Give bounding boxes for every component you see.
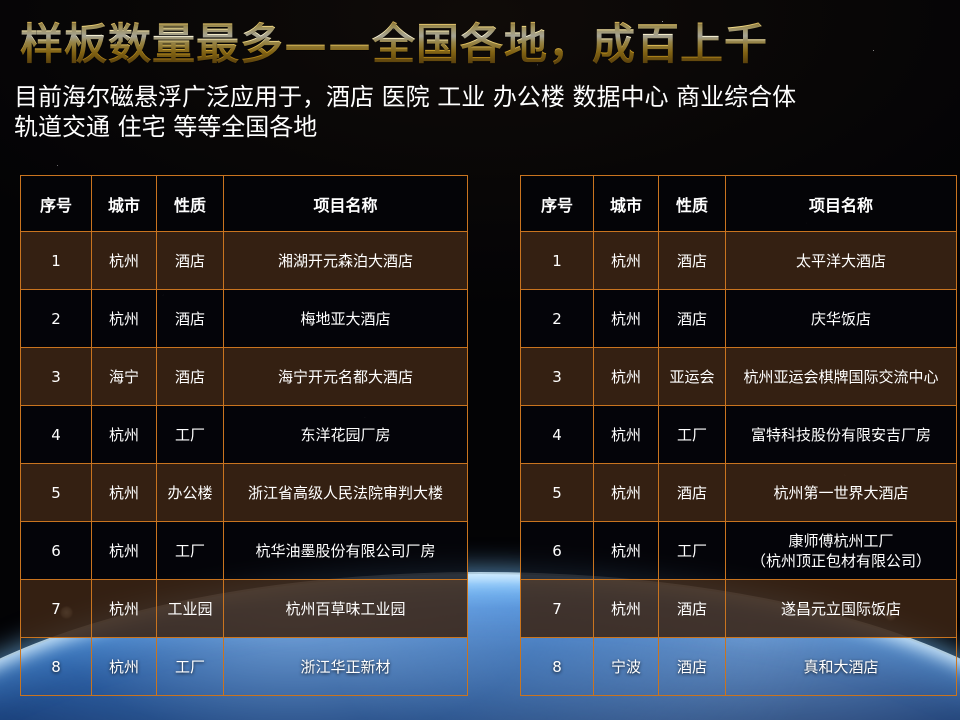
table-row[interactable]: 1 杭州 酒店 太平洋大酒店 bbox=[521, 232, 957, 290]
table-row[interactable]: 4 杭州 工厂 富特科技股份有限安吉厂房 bbox=[521, 406, 957, 464]
cell-type: 办公楼 bbox=[157, 464, 224, 522]
cell-index: 5 bbox=[521, 464, 594, 522]
table-row[interactable]: 5 杭州 酒店 杭州第一世界大酒店 bbox=[521, 464, 957, 522]
table-row[interactable]: 1 杭州 酒店 湘湖开元森泊大酒店 bbox=[21, 232, 468, 290]
table-row[interactable]: 8 杭州 工厂 浙江华正新材 bbox=[21, 638, 468, 696]
slide-canvas: 样板数量最多——全国各地，成百上千 目前海尔磁悬浮广泛应用于，酒店 医院 工业 … bbox=[0, 0, 960, 720]
cell-type: 酒店 bbox=[659, 580, 726, 638]
cell-project: 海宁开元名都大酒店 bbox=[224, 348, 468, 406]
cell-index: 1 bbox=[21, 232, 92, 290]
cell-city: 杭州 bbox=[92, 522, 157, 580]
cell-type: 工业园 bbox=[157, 580, 224, 638]
cell-city: 杭州 bbox=[92, 580, 157, 638]
cell-index: 2 bbox=[21, 290, 92, 348]
cell-city: 杭州 bbox=[92, 406, 157, 464]
cell-type: 酒店 bbox=[659, 290, 726, 348]
table-row[interactable]: 6 杭州 工厂 康师傅杭州工厂 （杭州顶正包材有限公司） bbox=[521, 522, 957, 580]
cell-index: 6 bbox=[521, 522, 594, 580]
cell-index: 3 bbox=[521, 348, 594, 406]
cell-type: 工厂 bbox=[157, 638, 224, 696]
cell-city: 杭州 bbox=[92, 464, 157, 522]
cell-city: 宁波 bbox=[594, 638, 659, 696]
cell-project: 杭华油墨股份有限公司厂房 bbox=[224, 522, 468, 580]
table-left-header-row: 序号 城市 性质 项目名称 bbox=[21, 176, 468, 232]
cell-project-line-2: （杭州顶正包材有限公司） bbox=[751, 552, 931, 570]
table-right-head: 序号 城市 性质 项目名称 bbox=[521, 176, 957, 232]
table-left-head: 序号 城市 性质 项目名称 bbox=[21, 176, 468, 232]
cell-project: 杭州百草味工业园 bbox=[224, 580, 468, 638]
cell-city: 海宁 bbox=[92, 348, 157, 406]
cell-city: 杭州 bbox=[594, 522, 659, 580]
table-right-header-row: 序号 城市 性质 项目名称 bbox=[521, 176, 957, 232]
subtitle-block: 目前海尔磁悬浮广泛应用于，酒店 医院 工业 办公楼 数据中心 商业综合体 轨道交… bbox=[14, 82, 946, 142]
projects-table-left: 序号 城市 性质 项目名称 1 杭州 酒店 湘湖开元森泊大酒店 2 杭州 酒店 … bbox=[20, 175, 468, 696]
cell-city: 杭州 bbox=[594, 406, 659, 464]
cell-index: 3 bbox=[21, 348, 92, 406]
cell-type: 酒店 bbox=[157, 290, 224, 348]
table-row[interactable]: 7 杭州 酒店 遂昌元立国际饭店 bbox=[521, 580, 957, 638]
cell-type: 酒店 bbox=[659, 464, 726, 522]
cell-project: 康师傅杭州工厂 （杭州顶正包材有限公司） bbox=[726, 522, 957, 580]
cell-type: 酒店 bbox=[157, 232, 224, 290]
cell-type: 工厂 bbox=[157, 406, 224, 464]
cell-project: 浙江省高级人民法院审判大楼 bbox=[224, 464, 468, 522]
cell-city: 杭州 bbox=[594, 348, 659, 406]
projects-table-right: 序号 城市 性质 项目名称 1 杭州 酒店 太平洋大酒店 2 杭州 酒店 庆华饭… bbox=[520, 175, 957, 696]
cell-city: 杭州 bbox=[594, 464, 659, 522]
cell-project: 庆华饭店 bbox=[726, 290, 957, 348]
column-header-city: 城市 bbox=[92, 176, 157, 232]
cell-type: 工厂 bbox=[659, 522, 726, 580]
cell-project: 遂昌元立国际饭店 bbox=[726, 580, 957, 638]
cell-project: 富特科技股份有限安吉厂房 bbox=[726, 406, 957, 464]
subtitle-line-1: 目前海尔磁悬浮广泛应用于，酒店 医院 工业 办公楼 数据中心 商业综合体 bbox=[14, 82, 946, 112]
table-row[interactable]: 3 海宁 酒店 海宁开元名都大酒店 bbox=[21, 348, 468, 406]
cell-index: 4 bbox=[521, 406, 594, 464]
cell-type: 酒店 bbox=[659, 232, 726, 290]
table-left-body: 1 杭州 酒店 湘湖开元森泊大酒店 2 杭州 酒店 梅地亚大酒店 3 海宁 酒店… bbox=[21, 232, 468, 696]
cell-city: 杭州 bbox=[92, 232, 157, 290]
page-title: 样板数量最多——全国各地，成百上千 bbox=[20, 10, 768, 72]
subtitle-line-2: 轨道交通 住宅 等等全国各地 bbox=[14, 112, 946, 142]
column-header-type: 性质 bbox=[157, 176, 224, 232]
table-row[interactable]: 7 杭州 工业园 杭州百草味工业园 bbox=[21, 580, 468, 638]
cell-index: 2 bbox=[521, 290, 594, 348]
table-row[interactable]: 8 宁波 酒店 真和大酒店 bbox=[521, 638, 957, 696]
table-row[interactable]: 4 杭州 工厂 东洋花园厂房 bbox=[21, 406, 468, 464]
cell-city: 杭州 bbox=[92, 638, 157, 696]
cell-city: 杭州 bbox=[594, 290, 659, 348]
cell-type: 亚运会 bbox=[659, 348, 726, 406]
cell-project: 浙江华正新材 bbox=[224, 638, 468, 696]
column-header-index: 序号 bbox=[21, 176, 92, 232]
cell-project: 太平洋大酒店 bbox=[726, 232, 957, 290]
table-row[interactable]: 6 杭州 工厂 杭华油墨股份有限公司厂房 bbox=[21, 522, 468, 580]
cell-type: 工厂 bbox=[659, 406, 726, 464]
column-header-city: 城市 bbox=[594, 176, 659, 232]
cell-index: 4 bbox=[21, 406, 92, 464]
cell-project: 梅地亚大酒店 bbox=[224, 290, 468, 348]
cell-project: 杭州亚运会棋牌国际交流中心 bbox=[726, 348, 957, 406]
table-row[interactable]: 2 杭州 酒店 梅地亚大酒店 bbox=[21, 290, 468, 348]
table-right-body: 1 杭州 酒店 太平洋大酒店 2 杭州 酒店 庆华饭店 3 杭州 亚运会 杭州亚… bbox=[521, 232, 957, 696]
cell-index: 8 bbox=[521, 638, 594, 696]
column-header-index: 序号 bbox=[521, 176, 594, 232]
table-row[interactable]: 5 杭州 办公楼 浙江省高级人民法院审判大楼 bbox=[21, 464, 468, 522]
cell-type: 酒店 bbox=[157, 348, 224, 406]
cell-index: 1 bbox=[521, 232, 594, 290]
column-header-type: 性质 bbox=[659, 176, 726, 232]
cell-city: 杭州 bbox=[594, 580, 659, 638]
cell-city: 杭州 bbox=[92, 290, 157, 348]
cell-project: 真和大酒店 bbox=[726, 638, 957, 696]
cell-project: 东洋花园厂房 bbox=[224, 406, 468, 464]
table-row[interactable]: 3 杭州 亚运会 杭州亚运会棋牌国际交流中心 bbox=[521, 348, 957, 406]
cell-type: 工厂 bbox=[157, 522, 224, 580]
cell-project: 湘湖开元森泊大酒店 bbox=[224, 232, 468, 290]
cell-index: 7 bbox=[521, 580, 594, 638]
column-header-project: 项目名称 bbox=[726, 176, 957, 232]
table-row[interactable]: 2 杭州 酒店 庆华饭店 bbox=[521, 290, 957, 348]
cell-index: 6 bbox=[21, 522, 92, 580]
cell-city: 杭州 bbox=[594, 232, 659, 290]
cell-project-line-1: 康师傅杭州工厂 bbox=[788, 532, 893, 550]
cell-type: 酒店 bbox=[659, 638, 726, 696]
cell-index: 8 bbox=[21, 638, 92, 696]
cell-index: 5 bbox=[21, 464, 92, 522]
cell-project: 杭州第一世界大酒店 bbox=[726, 464, 957, 522]
column-header-project: 项目名称 bbox=[224, 176, 468, 232]
cell-index: 7 bbox=[21, 580, 92, 638]
